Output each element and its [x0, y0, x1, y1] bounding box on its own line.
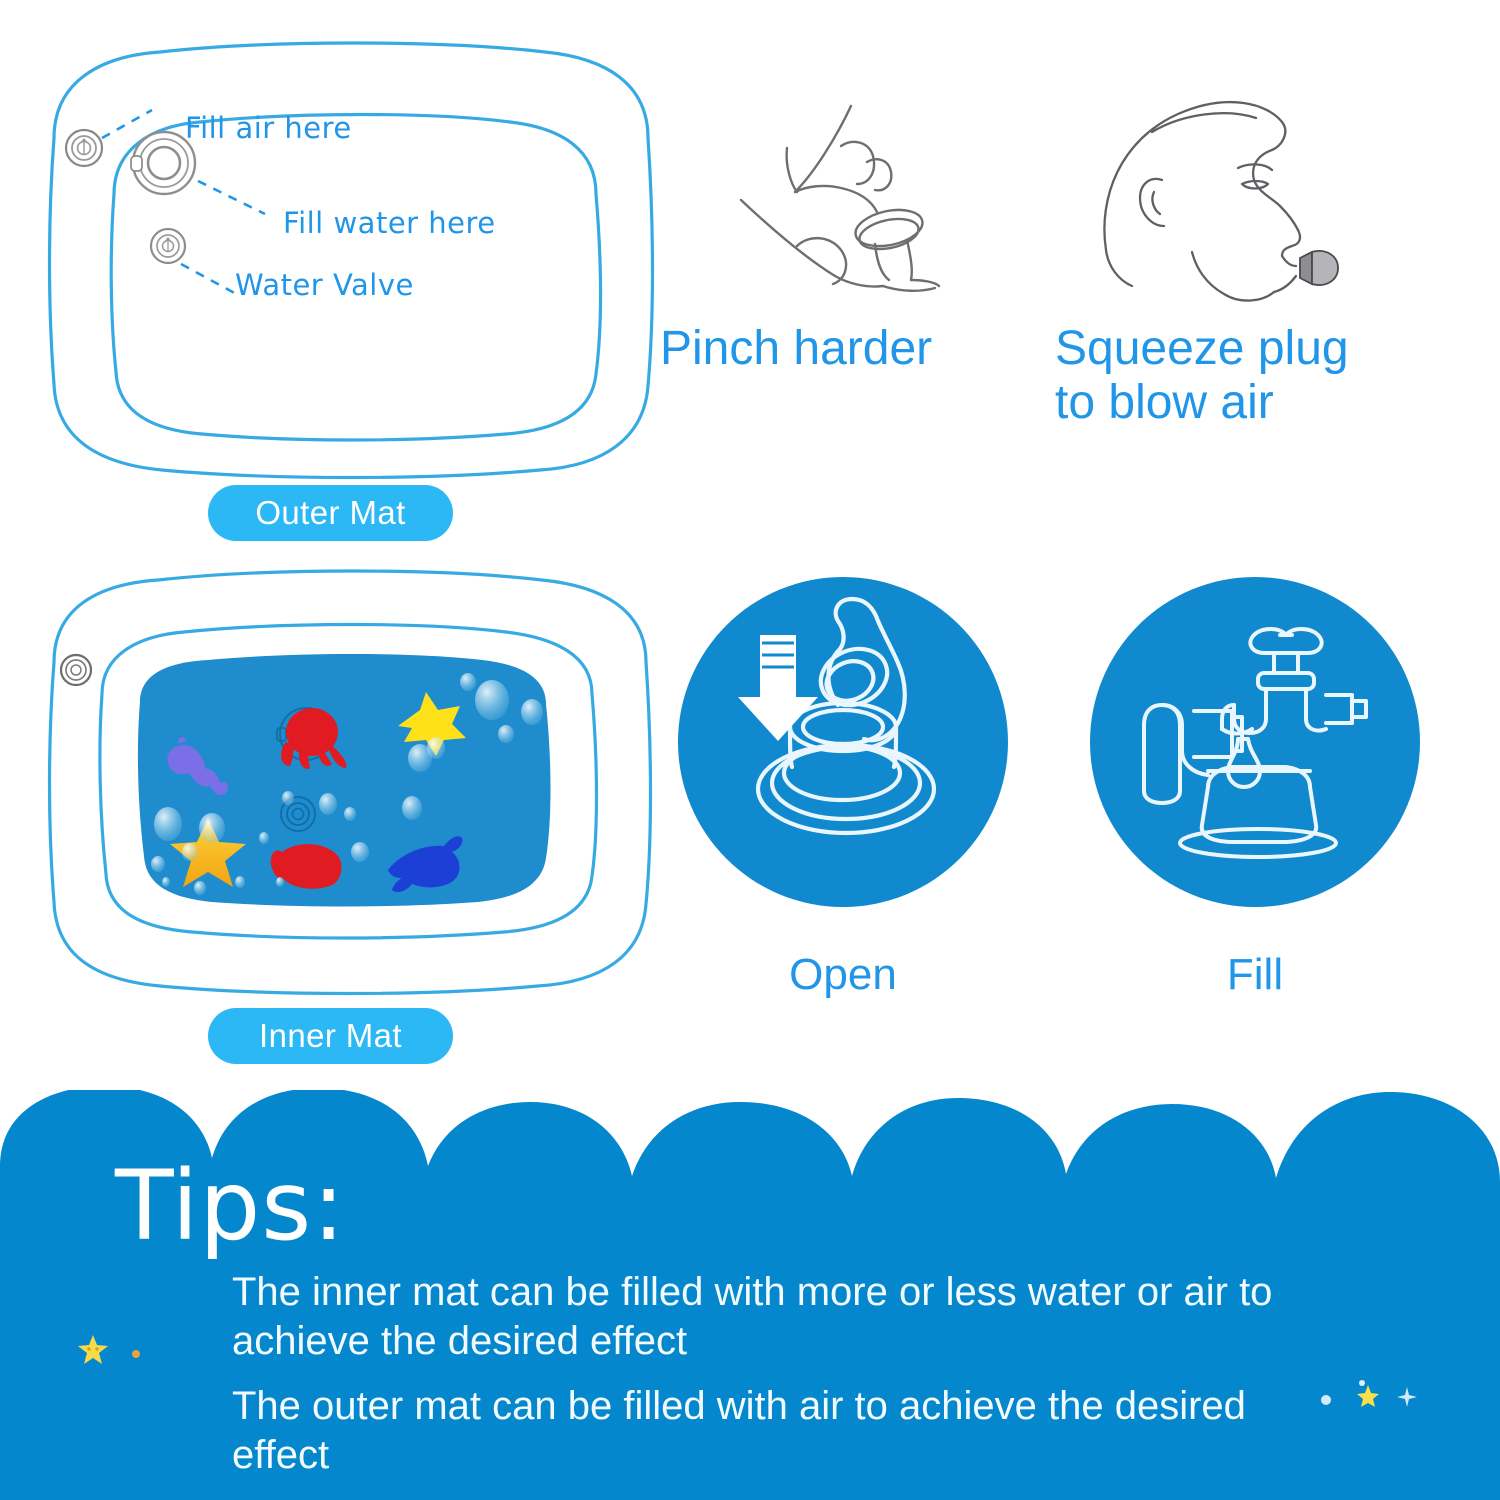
leader-line-valve: [181, 264, 240, 296]
dot-icon: [1356, 1377, 1368, 1389]
callout-water-valve: Water Valve: [235, 268, 414, 302]
inner-air-valve-icon: [61, 655, 91, 685]
caption-open: Open: [678, 950, 1008, 1000]
down-arrow-icon: [738, 635, 818, 741]
callout-fill-air-here: Fill air here: [185, 111, 352, 145]
star-icon: [76, 1333, 110, 1367]
instruction-sheet: Fill air here Fill water here Water Valv…: [0, 0, 1500, 1500]
leader-line-water: [198, 181, 265, 214]
plug-shape: [1300, 251, 1338, 285]
badge-inner-mat: Inner Mat: [208, 1008, 453, 1064]
caption-squeeze-plug: Squeeze plug to blow air: [1055, 322, 1485, 430]
outer-mat-illustration: Fill air here Fill water here Water Valv…: [40, 18, 660, 488]
dot-icon: [130, 1348, 142, 1360]
badge-outer-mat: Outer Mat: [208, 485, 453, 541]
air-valve-icon: [66, 130, 102, 166]
callout-fill-water-here: Fill water here: [283, 206, 496, 240]
valve-open-icon: [678, 577, 1008, 907]
inner-mat-illustration: [40, 552, 660, 1002]
caption-fill: Fill: [1090, 950, 1420, 1000]
tip-line-inner-mat: The inner mat can be filled with more or…: [232, 1268, 1322, 1366]
caption-pinch-harder: Pinch harder: [660, 322, 1060, 376]
tip-line-outer-mat: The outer mat can be filled with air to …: [232, 1382, 1322, 1480]
sparkle-icon: [1396, 1386, 1418, 1408]
water-valve-icon: [151, 229, 185, 263]
leader-line-air: [102, 110, 152, 138]
tips-title: Tips:: [115, 1150, 346, 1262]
faucet-fill-icon: [1090, 577, 1420, 907]
